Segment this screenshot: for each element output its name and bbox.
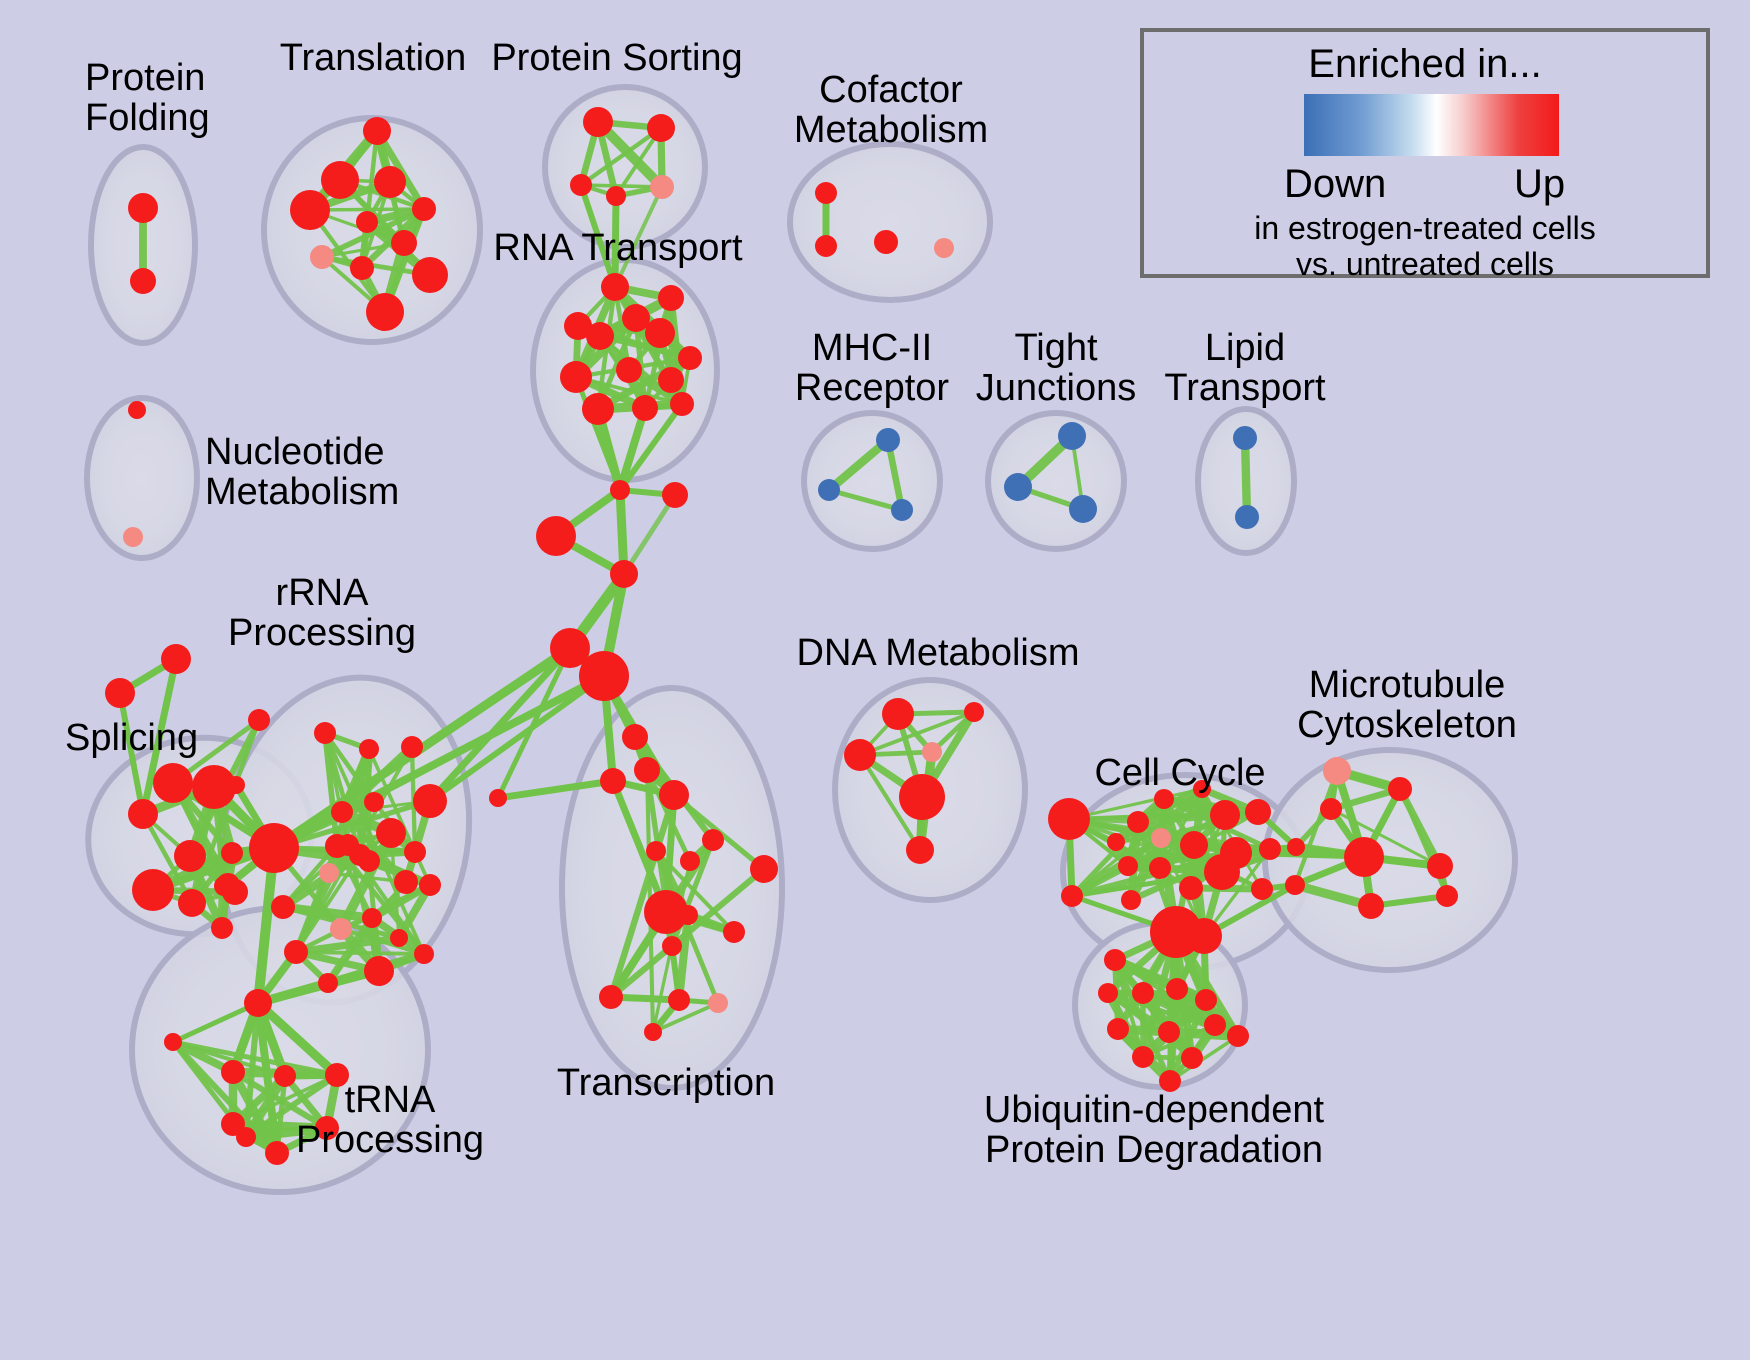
network-node — [1287, 838, 1305, 856]
network-node — [128, 401, 146, 419]
network-node — [363, 117, 391, 145]
network-node — [318, 973, 338, 993]
network-node — [222, 879, 248, 905]
network-node — [356, 211, 378, 233]
network-node — [489, 789, 507, 807]
network-node — [350, 256, 374, 280]
network-node — [1107, 1018, 1129, 1040]
network-node — [934, 238, 954, 258]
network-node — [906, 836, 934, 864]
network-node — [1098, 983, 1118, 1003]
network-node — [645, 318, 675, 348]
network-node — [582, 393, 614, 425]
network-node — [1151, 828, 1171, 848]
network-node — [922, 742, 942, 762]
network-node — [1180, 831, 1208, 859]
network-node — [330, 918, 352, 940]
legend-box: Enriched in... Down Up in estrogen-treat… — [1140, 28, 1710, 278]
cluster-label-tight-junctions: Tight Junctions — [976, 328, 1137, 409]
network-node — [678, 346, 702, 370]
network-node — [647, 114, 675, 142]
network-node — [702, 829, 724, 851]
network-node — [164, 1033, 182, 1051]
network-node — [1323, 757, 1351, 785]
network-node — [1320, 798, 1342, 820]
network-node — [366, 293, 404, 331]
network-node — [1358, 893, 1384, 919]
network-node — [1186, 918, 1222, 954]
network-node — [310, 245, 334, 269]
cluster-label-rrna-processing: rRNA Processing — [228, 573, 416, 654]
network-node — [668, 989, 690, 1011]
network-node — [616, 357, 642, 383]
network-node — [583, 107, 613, 137]
network-node — [244, 989, 272, 1017]
legend-up-label: Up — [1514, 162, 1565, 207]
network-node — [1233, 426, 1257, 450]
network-node — [132, 869, 174, 911]
network-node — [1107, 833, 1125, 851]
network-node — [680, 851, 700, 871]
network-node — [1344, 837, 1384, 877]
cluster-label-mhc-ii-receptor: MHC-II Receptor — [795, 328, 949, 409]
network-node — [1158, 1021, 1180, 1043]
cluster-label-ubiquitin-protein-degradation: Ubiquitin-dependent Protein Degradation — [984, 1090, 1324, 1171]
network-node — [650, 175, 674, 199]
network-node — [1058, 422, 1086, 450]
network-node — [610, 480, 630, 500]
network-node — [600, 768, 626, 794]
network-node — [1069, 495, 1097, 523]
network-node — [1048, 798, 1090, 840]
cluster-label-translation: Translation — [280, 38, 467, 78]
network-node — [818, 479, 840, 501]
network-node — [815, 182, 837, 204]
network-node — [599, 985, 623, 1009]
cluster-label-rna-transport: RNA Transport — [493, 228, 742, 268]
network-node — [579, 651, 629, 701]
network-node — [419, 874, 441, 896]
network-node — [658, 285, 684, 311]
network-node — [586, 322, 614, 350]
network-node — [570, 174, 592, 196]
network-node — [236, 1127, 256, 1147]
cluster-label-cell-cycle: Cell Cycle — [1094, 753, 1265, 793]
legend-title: Enriched in... — [1144, 42, 1706, 87]
network-node — [1204, 854, 1240, 890]
network-node — [632, 395, 658, 421]
network-edge — [624, 495, 675, 574]
network-node — [362, 908, 382, 928]
network-node — [662, 482, 688, 508]
network-node — [319, 863, 339, 883]
network-node — [192, 765, 236, 809]
cluster-label-nucleotide-metabolism: Nucleotide Metabolism — [205, 432, 399, 513]
network-node — [876, 428, 900, 452]
cluster-label-cofactor-metabolism: Cofactor Metabolism — [794, 70, 988, 151]
network-node — [1181, 1047, 1203, 1069]
network-node — [358, 850, 380, 872]
network-node — [105, 678, 135, 708]
network-node — [364, 956, 394, 986]
network-node — [401, 736, 423, 758]
network-node — [211, 917, 233, 939]
network-node — [376, 818, 406, 848]
cluster-label-splicing: Splicing — [65, 718, 198, 758]
cluster-label-protein-sorting: Protein Sorting — [491, 38, 742, 78]
network-node — [658, 367, 684, 393]
legend-color-bar — [1304, 94, 1559, 156]
network-node — [1121, 890, 1141, 910]
network-node — [123, 527, 143, 547]
network-node — [1388, 777, 1412, 801]
network-node — [1427, 853, 1453, 879]
network-node — [1149, 857, 1171, 879]
network-node — [394, 870, 418, 894]
network-node — [644, 890, 688, 934]
cluster-label-transcription: Transcription — [557, 1063, 775, 1103]
network-node — [646, 841, 666, 861]
network-node — [249, 823, 299, 873]
network-node — [374, 166, 406, 198]
legend-down-label: Down — [1284, 162, 1386, 207]
network-node — [708, 993, 728, 1013]
network-node — [265, 1141, 289, 1165]
network-node — [221, 842, 243, 864]
network-node — [1127, 811, 1149, 833]
cluster-label-protein-folding: Protein Folding — [85, 58, 210, 139]
network-node — [412, 257, 448, 293]
network-node — [670, 392, 694, 416]
network-node — [314, 722, 336, 744]
cluster-label-dna-metabolism: DNA Metabolism — [797, 633, 1080, 673]
network-node — [659, 780, 689, 810]
network-node — [359, 739, 379, 759]
network-node — [560, 361, 592, 393]
network-node — [964, 702, 984, 722]
network-node — [882, 698, 914, 730]
network-node — [899, 774, 945, 820]
legend-subtitle-line2: vs. untreated cells — [1144, 246, 1706, 283]
enrichment-map-figure: Protein FoldingTranslationProtein Sortin… — [0, 0, 1750, 1360]
network-node — [874, 230, 898, 254]
cluster-label-lipid-transport: Lipid Transport — [1164, 328, 1325, 409]
network-node — [1179, 876, 1203, 900]
network-node — [391, 230, 417, 256]
network-node — [128, 799, 158, 829]
network-node — [284, 940, 308, 964]
network-node — [536, 516, 576, 556]
network-node — [844, 739, 876, 771]
network-node — [634, 757, 660, 783]
network-node — [321, 161, 359, 199]
network-node — [161, 644, 191, 674]
legend-subtitle-line1: in estrogen-treated cells — [1144, 210, 1706, 247]
network-node — [1285, 875, 1305, 895]
network-node — [1436, 885, 1458, 907]
network-node — [271, 895, 295, 919]
network-node — [1227, 1025, 1249, 1047]
network-node — [1132, 982, 1154, 1004]
network-node — [662, 936, 682, 956]
network-node — [153, 763, 193, 803]
network-node — [750, 855, 778, 883]
network-node — [891, 499, 913, 521]
network-node — [644, 1023, 662, 1041]
network-node — [622, 724, 648, 750]
network-node — [248, 709, 270, 731]
network-node — [1204, 1014, 1226, 1036]
network-node — [221, 1060, 245, 1084]
network-node — [815, 235, 837, 257]
network-node — [1251, 878, 1273, 900]
network-node — [1132, 1046, 1154, 1068]
network-node — [364, 792, 384, 812]
network-node — [128, 193, 158, 223]
network-node — [1210, 800, 1240, 830]
network-node — [413, 784, 447, 818]
cluster-label-trna-processing: tRNA Processing — [296, 1080, 484, 1161]
network-node — [1235, 505, 1259, 529]
network-node — [1118, 856, 1138, 876]
network-node — [178, 889, 206, 917]
network-node — [1245, 799, 1271, 825]
cluster-ellipse-cofactor-metabolism — [790, 144, 990, 300]
network-node — [601, 273, 629, 301]
network-node — [174, 840, 206, 872]
network-node — [404, 841, 426, 863]
network-node — [606, 186, 626, 206]
network-node — [1166, 978, 1188, 1000]
network-node — [1004, 473, 1032, 501]
network-node — [290, 190, 330, 230]
network-node — [412, 197, 436, 221]
network-node — [622, 304, 650, 332]
network-node — [331, 801, 353, 823]
cluster-ellipse-protein-sorting — [545, 87, 705, 247]
network-node — [414, 944, 434, 964]
network-node — [390, 929, 408, 947]
cluster-label-microtubule-cytoskeleton: Microtubule Cytoskeleton — [1297, 665, 1517, 746]
network-node — [723, 921, 745, 943]
network-node — [1195, 989, 1217, 1011]
network-node — [1259, 838, 1281, 860]
network-node — [1104, 949, 1126, 971]
network-node — [274, 1065, 296, 1087]
network-node — [130, 268, 156, 294]
network-node — [610, 560, 638, 588]
network-node — [1061, 885, 1083, 907]
